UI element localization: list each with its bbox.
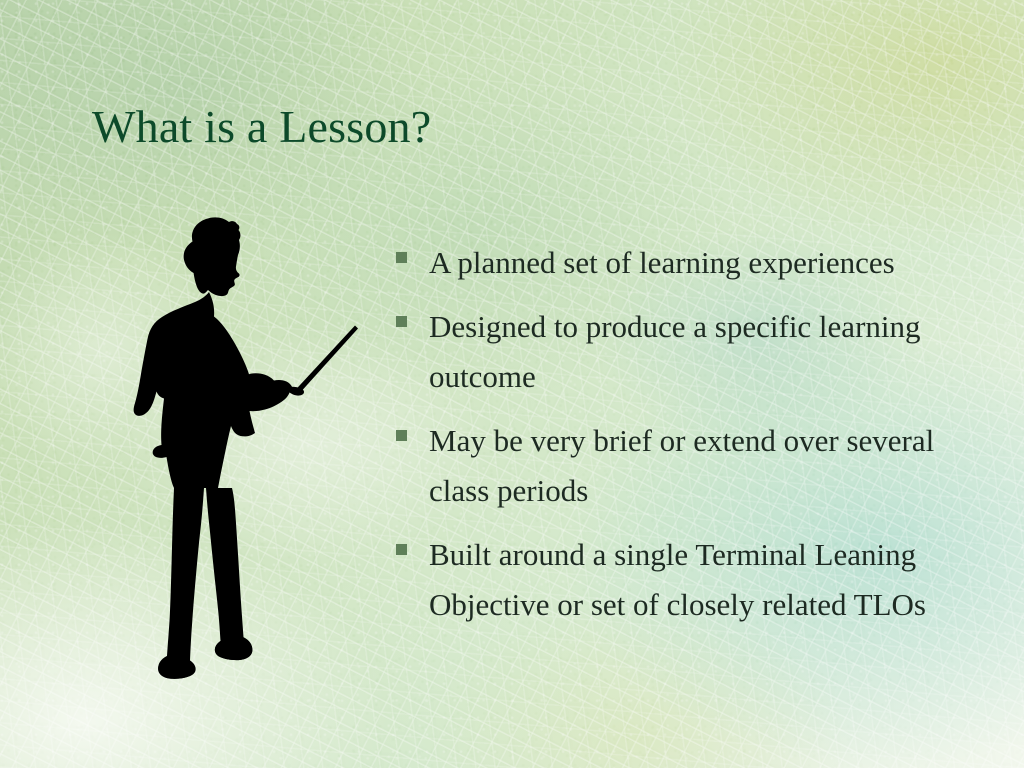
list-item: Designed to produce a specific learning … <box>396 302 956 402</box>
presentation-slide: What is a Lesson? <box>0 0 1024 768</box>
square-bullet-icon <box>396 544 407 555</box>
bullet-text: A planned set of learning experiences <box>429 238 956 288</box>
bullet-list: A planned set of learning experiences De… <box>396 238 956 644</box>
bullet-text: Built around a single Terminal Leaning O… <box>429 530 956 630</box>
square-bullet-icon <box>396 252 407 263</box>
bullet-text: May be very brief or extend over several… <box>429 416 956 516</box>
teacher-silhouette-illustration <box>110 200 390 700</box>
list-item: A planned set of learning experiences <box>396 238 956 288</box>
list-item: May be very brief or extend over several… <box>396 416 956 516</box>
list-item: Built around a single Terminal Leaning O… <box>396 530 956 630</box>
slide-title: What is a Lesson? <box>92 103 431 152</box>
square-bullet-icon <box>396 430 407 441</box>
square-bullet-icon <box>396 316 407 327</box>
bullet-text: Designed to produce a specific learning … <box>429 302 956 402</box>
